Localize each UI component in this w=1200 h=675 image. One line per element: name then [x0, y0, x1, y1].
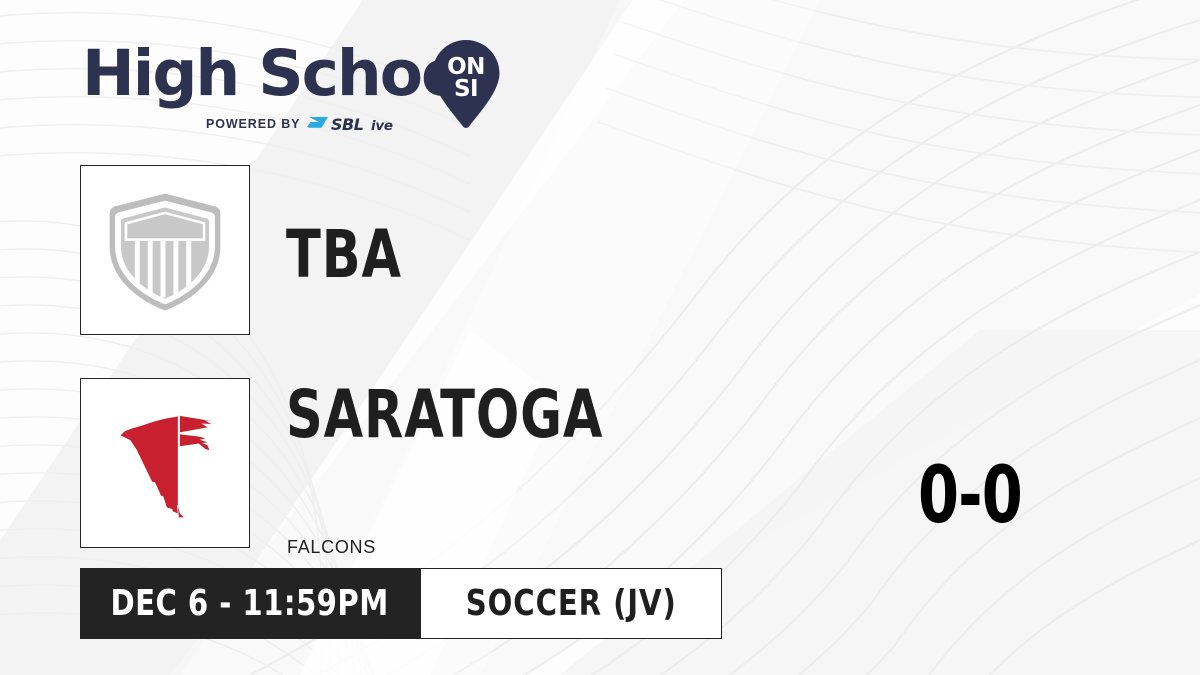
- placeholder-shield-icon: [81, 166, 249, 334]
- svg-text:SBL: SBL: [331, 115, 364, 134]
- sblive-logo: SBL ive: [307, 114, 409, 134]
- game-datetime-text: DEC 6 - 11:59PM: [111, 583, 389, 624]
- on-si-pin-icon: ON SI: [430, 38, 502, 130]
- score-display: 0-0: [886, 455, 1054, 537]
- logo-wordmark: High School: [82, 42, 482, 105]
- site-logo[interactable]: High School ON SI POWERED BY SBL ive: [82, 32, 512, 137]
- powered-by-label: POWERED BY: [206, 117, 300, 131]
- team-logo-box-1[interactable]: [80, 165, 250, 335]
- scorecard-graphic: High School ON SI POWERED BY SBL ive: [0, 0, 1200, 675]
- svg-text:ive: ive: [371, 118, 393, 134]
- svg-text:SI: SI: [454, 76, 478, 102]
- game-datetime-chip[interactable]: DEC 6 - 11:59PM: [80, 568, 420, 639]
- team-logo-box-2[interactable]: [80, 378, 250, 548]
- team-name-2: SARATOGA: [286, 382, 603, 448]
- game-info-bar: DEC 6 - 11:59PM SOCCER (JV): [80, 568, 722, 639]
- team-name-1: TBA: [286, 222, 402, 288]
- falcon-icon: [81, 379, 249, 547]
- team-mascot-2: FALCONS: [287, 537, 376, 558]
- powered-by-row: POWERED BY SBL ive: [206, 114, 409, 134]
- game-sport-chip[interactable]: SOCCER (JV): [420, 568, 722, 639]
- game-sport-text: SOCCER (JV): [466, 583, 677, 624]
